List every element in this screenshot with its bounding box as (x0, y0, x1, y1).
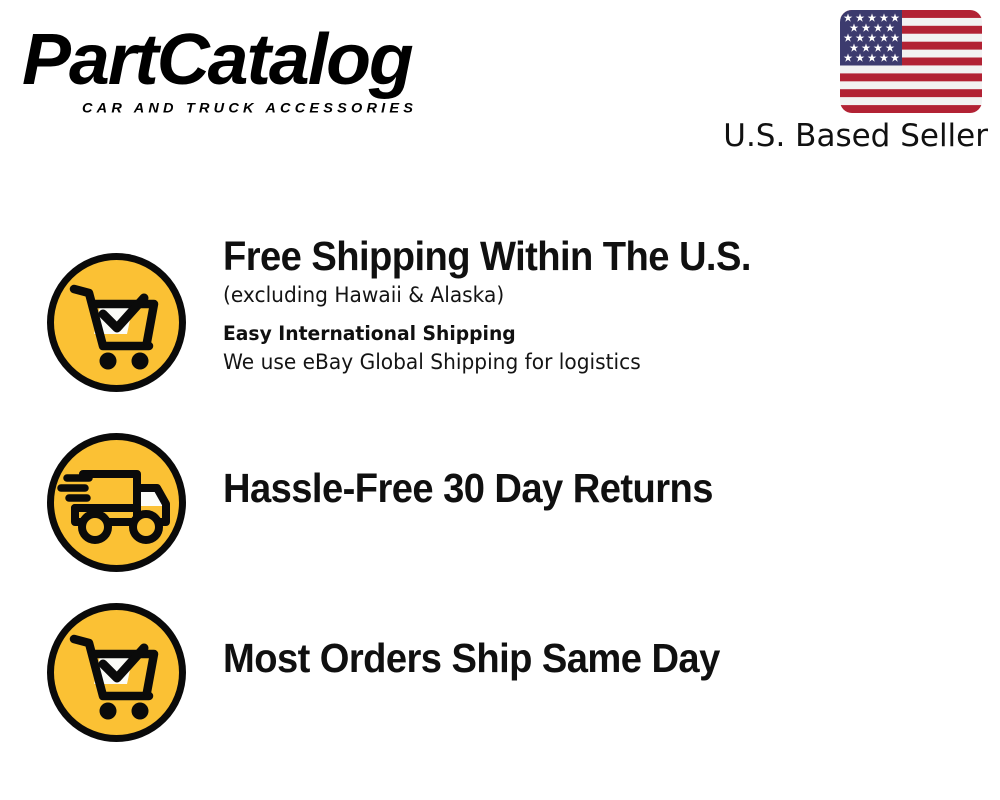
header-banner: PartCatalog CAR AND TRUCK ACCESSORIES (0, 0, 1000, 175)
feature-text-block: Most Orders Ship Same Day (223, 634, 983, 682)
feature-title: Hassle-Free 30 Day Returns (223, 464, 930, 512)
feature-extra-subtitle: We use eBay Global Shipping for logistic… (223, 347, 953, 378)
feature-text-block: Free Shipping Within The U.S. (excluding… (223, 232, 983, 378)
shopping-cart-check-icon (45, 250, 188, 395)
feature-title: Free Shipping Within The U.S. (223, 232, 930, 280)
delivery-truck-icon (45, 430, 188, 575)
feature-text-block: Hassle-Free 30 Day Returns (223, 464, 983, 512)
svg-text:PartCatalog: PartCatalog (22, 22, 413, 100)
brand-wordmark-icon: PartCatalog (22, 22, 484, 100)
seller-location-label: U.S. Based Seller (723, 118, 988, 154)
shopping-cart-check-icon (45, 600, 188, 745)
brand-tagline: CAR AND TRUCK ACCESSORIES (82, 101, 492, 116)
feature-subtitle: (excluding Hawaii & Alaska) (223, 280, 953, 310)
us-flag-icon (840, 10, 982, 113)
brand-logo[interactable]: PartCatalog CAR AND TRUCK ACCESSORIES (22, 22, 492, 117)
feature-extra-title: Easy International Shipping (223, 320, 953, 347)
feature-title: Most Orders Ship Same Day (223, 634, 930, 682)
